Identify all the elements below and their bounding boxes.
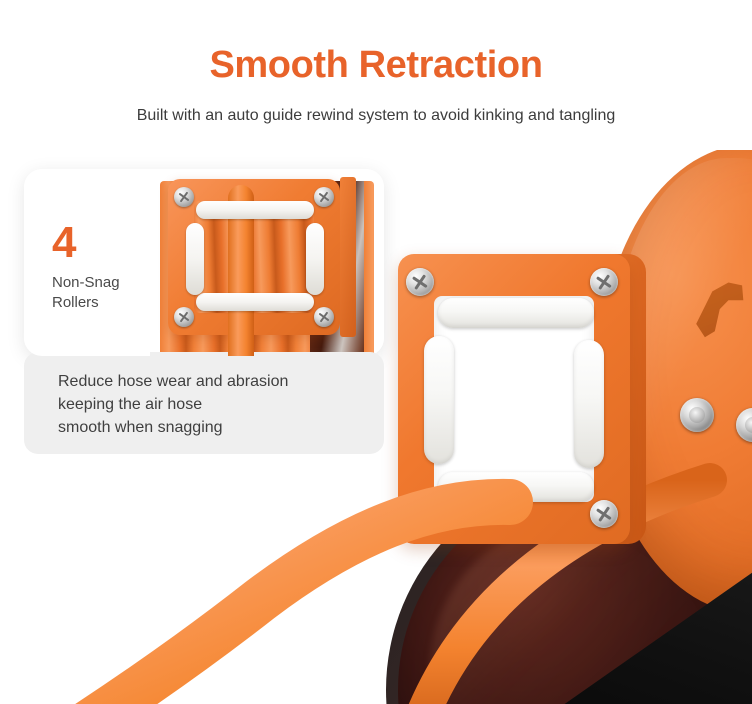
callout-text-column: 4 Non-Snag Rollers xyxy=(24,169,150,356)
inset-guide-frame xyxy=(168,179,340,335)
inset-mount-bracket xyxy=(340,177,356,337)
non-snag-roller-right xyxy=(574,340,604,468)
phillips-screw-icon xyxy=(590,268,618,296)
chrome-bolt xyxy=(680,398,714,432)
non-snag-roller-left xyxy=(424,336,454,464)
feature-description-text: Reduce hose wear and abrasion keeping th… xyxy=(58,370,288,440)
roller-count-label: Non-Snag Rollers xyxy=(52,273,120,312)
phillips-screw-icon xyxy=(406,268,434,296)
inset-roller-top xyxy=(196,201,314,219)
inset-phillips-screw-icon xyxy=(174,307,194,327)
inset-phillips-screw-icon xyxy=(314,307,334,327)
inset-product-photo xyxy=(150,169,384,356)
inset-roller-left xyxy=(186,223,204,295)
non-snag-roller-top xyxy=(438,298,594,328)
non-snag-roller-bottom xyxy=(438,472,594,502)
product-feature-page: Smooth Retraction Built with an auto gui… xyxy=(0,0,752,704)
inset-roller-right xyxy=(306,223,324,295)
roller-count-stat: 4 xyxy=(52,221,76,265)
feature-callout-card: 4 Non-Snag Rollers xyxy=(24,169,384,356)
phillips-screw-icon xyxy=(406,500,434,528)
roller-guide-assembly xyxy=(398,254,630,544)
inset-roller-bottom xyxy=(196,293,314,311)
inset-phillips-screw-icon xyxy=(314,187,334,207)
phillips-screw-icon xyxy=(590,500,618,528)
page-headline: Smooth Retraction xyxy=(0,46,752,86)
page-subheadline: Built with an auto guide rewind system t… xyxy=(0,106,752,127)
feature-description-box: Reduce hose wear and abrasion keeping th… xyxy=(24,352,384,454)
inset-phillips-screw-icon xyxy=(174,187,194,207)
